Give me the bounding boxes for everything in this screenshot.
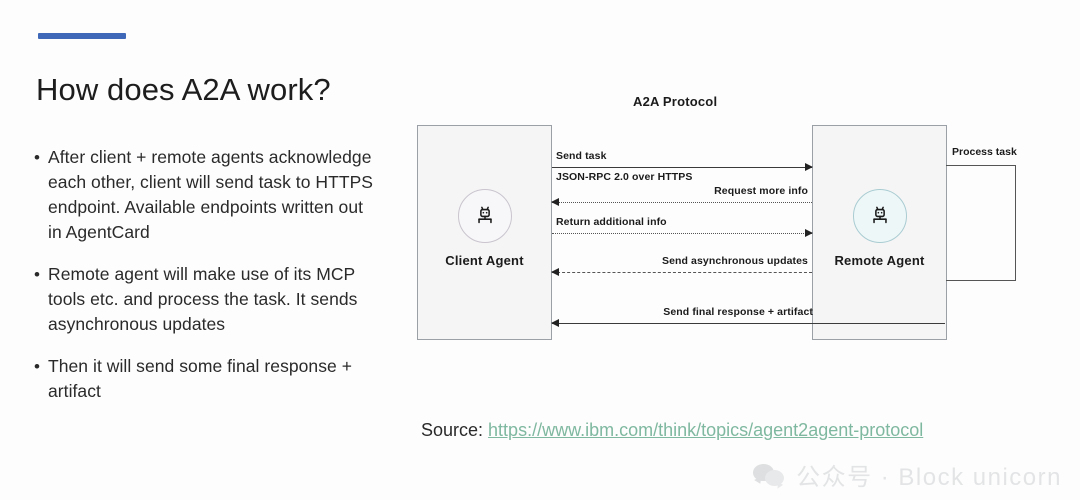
client-agent-label: Client Agent bbox=[418, 253, 551, 268]
bullet-text: Then it will send some final response + … bbox=[48, 354, 379, 404]
arrow-line bbox=[552, 233, 812, 234]
bullet-text: Remote agent will make use of its MCP to… bbox=[48, 262, 379, 337]
arrow-line bbox=[552, 167, 812, 168]
source-prefix: Source: bbox=[421, 420, 488, 440]
arrow-line bbox=[552, 323, 945, 324]
watermark-text: 公众号 · Block unicorn bbox=[796, 457, 1062, 492]
bullet-marker: • bbox=[34, 145, 48, 170]
arrowhead-right-icon bbox=[805, 229, 813, 237]
message-caption: Send asynchronous updates bbox=[662, 255, 808, 267]
source-line: Source: https://www.ibm.com/think/topics… bbox=[421, 418, 941, 443]
arrow-line bbox=[552, 272, 812, 273]
self-loop-label: Process task bbox=[952, 146, 1017, 158]
arrowhead-left-icon bbox=[551, 319, 559, 327]
bullet-marker: • bbox=[34, 262, 48, 287]
robot-icon bbox=[458, 189, 512, 243]
arrowhead-right-icon bbox=[805, 163, 813, 171]
message-subcaption: JSON-RPC 2.0 over HTTPS bbox=[556, 171, 693, 183]
bullet-marker: • bbox=[34, 354, 48, 379]
list-item: • Then it will send some final response … bbox=[34, 354, 379, 404]
remote-agent-label: Remote Agent bbox=[813, 253, 946, 268]
self-loop-process-task bbox=[946, 165, 1016, 281]
watermark: 公众号 · Block unicorn bbox=[753, 457, 1062, 492]
arrowhead-left-icon bbox=[551, 198, 559, 206]
sequence-diagram: A2A Protocol Client Agent bbox=[400, 80, 1070, 370]
remote-agent-box: Remote Agent bbox=[812, 125, 947, 340]
robot-icon-glyph bbox=[474, 205, 496, 227]
list-item: • After client + remote agents acknowled… bbox=[34, 145, 379, 245]
source-link[interactable]: https://www.ibm.com/think/topics/agent2a… bbox=[488, 420, 923, 440]
message-caption: Return additional info bbox=[556, 216, 667, 228]
diagram-title: A2A Protocol bbox=[633, 94, 717, 109]
bullet-list: • After client + remote agents acknowled… bbox=[34, 145, 379, 421]
arrow-line bbox=[552, 202, 812, 203]
client-agent-box: Client Agent bbox=[417, 125, 552, 340]
page-title: How does A2A work? bbox=[36, 72, 331, 108]
message-caption: Request more info bbox=[714, 185, 808, 197]
accent-bar bbox=[38, 33, 126, 39]
arrowhead-left-icon bbox=[551, 268, 559, 276]
slide-canvas: How does A2A work? • After client + remo… bbox=[0, 0, 1080, 500]
bullet-text: After client + remote agents acknowledge… bbox=[48, 145, 379, 245]
message-caption: Send task bbox=[556, 150, 607, 162]
wechat-icon bbox=[753, 462, 787, 488]
message-caption: Send final response + artifact bbox=[663, 306, 813, 318]
list-item: • Remote agent will make use of its MCP … bbox=[34, 262, 379, 337]
robot-icon-glyph bbox=[869, 205, 891, 227]
robot-icon bbox=[853, 189, 907, 243]
